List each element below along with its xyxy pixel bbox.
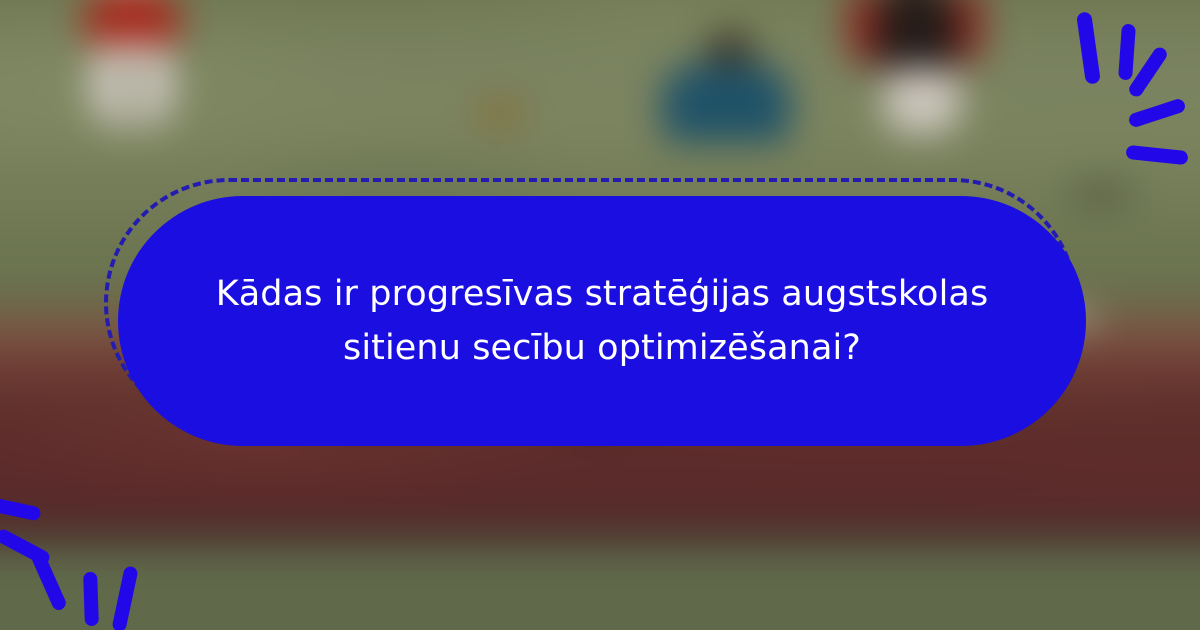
poster-canvas: Kādas ir progresīvas stratēģijas augstsk… <box>0 0 1200 630</box>
player-right-legs <box>884 68 960 134</box>
person-center-torso <box>662 64 790 142</box>
top-right-sparkle-burst <box>1040 8 1200 198</box>
field-debris <box>474 100 528 126</box>
sparkle-ray <box>111 565 138 630</box>
sparkle-ray <box>1127 97 1186 128</box>
sparkle-ray <box>0 494 42 521</box>
question-card: Kādas ir progresīvas stratēģijas augstsk… <box>118 196 1086 446</box>
sparkle-ray <box>1076 11 1101 84</box>
bottom-left-sparkle-burst <box>0 470 170 630</box>
player-left-leg-gap <box>126 58 140 128</box>
sparkle-ray <box>1125 145 1188 165</box>
sparkle-ray <box>83 572 99 626</box>
question-headline: Kādas ir progresīvas stratēģijas augstsk… <box>207 267 997 376</box>
player-right-torso <box>876 0 958 76</box>
sparkle-ray <box>1118 24 1136 81</box>
